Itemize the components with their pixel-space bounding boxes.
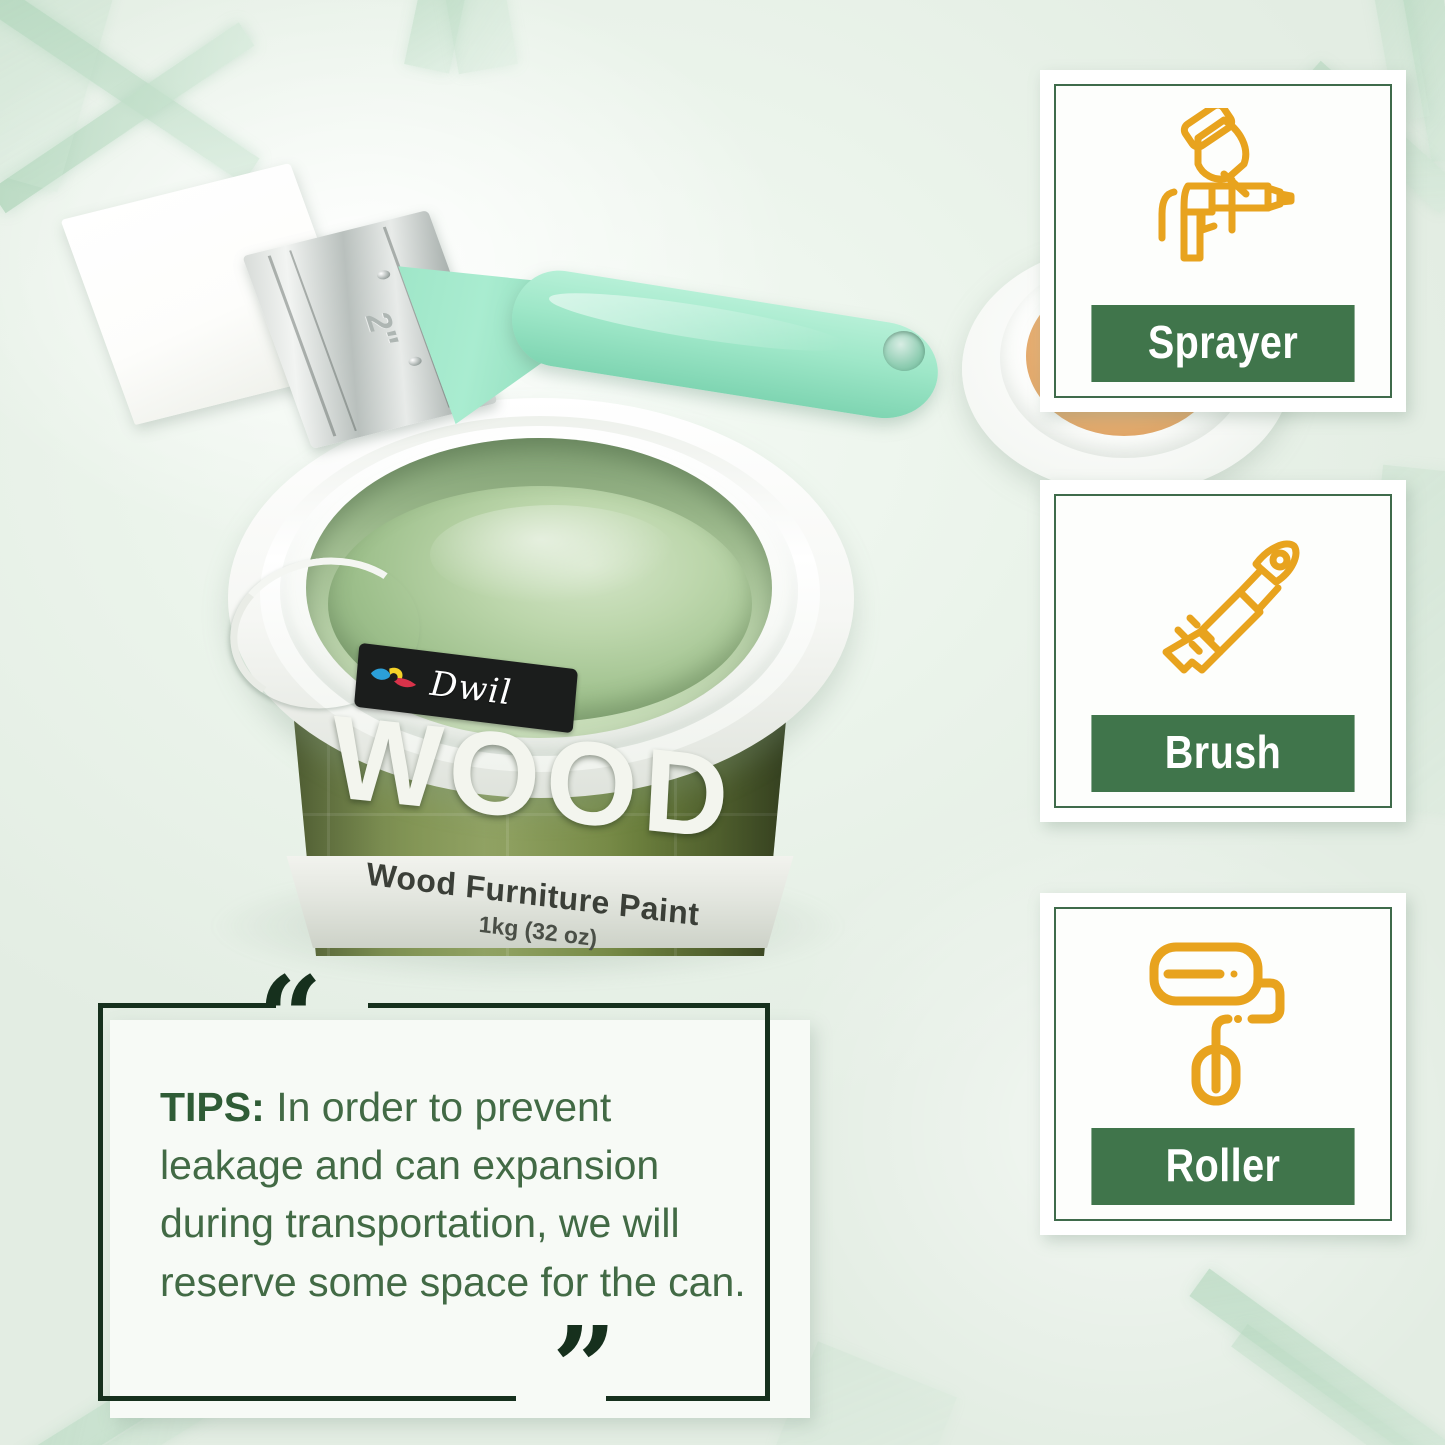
tips-heading: TIPS: <box>160 1084 265 1130</box>
quote-close-icon: ” <box>552 1313 614 1425</box>
paint-brush: 2" <box>95 185 965 485</box>
method-card-label: Brush <box>1091 715 1354 792</box>
paint-brush-icon <box>1056 496 1390 715</box>
quote-open-icon: “ <box>258 963 320 1075</box>
paint-roller-icon <box>1056 909 1390 1128</box>
method-card-sprayer[interactable]: Sprayer <box>1040 70 1406 412</box>
brush-handle <box>505 264 945 426</box>
method-card-label: Sprayer <box>1091 305 1354 382</box>
spray-gun-icon <box>1056 86 1390 305</box>
method-card-brush[interactable]: Brush <box>1040 480 1406 822</box>
method-card-roller[interactable]: Roller <box>1040 893 1406 1235</box>
brand-swirl-icon <box>365 659 424 700</box>
method-card-label: Roller <box>1091 1128 1354 1205</box>
brush-size-marking: 2" <box>357 309 406 350</box>
method-card-inner: Roller <box>1054 907 1392 1221</box>
method-card-inner: Sprayer <box>1054 84 1392 398</box>
tips-text: TIPS: In order to prevent leakage and ca… <box>160 1078 760 1311</box>
product-infographic: Dwil WOOD Wood Furniture Paint 1kg (32 o… <box>0 0 1445 1445</box>
method-card-inner: Brush <box>1054 494 1392 808</box>
